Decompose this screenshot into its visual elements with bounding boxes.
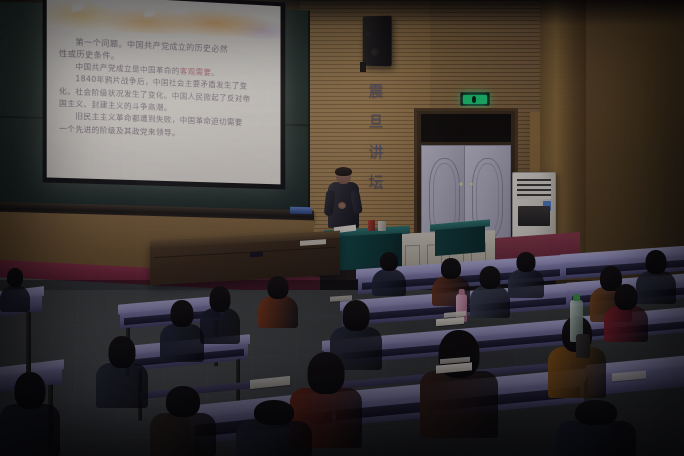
student-head — [646, 250, 667, 274]
student — [470, 266, 510, 318]
dark-tumbler[interactable] — [576, 334, 590, 358]
side-podium-body — [435, 226, 485, 256]
student-torso — [372, 269, 406, 296]
student-head — [210, 286, 231, 312]
student-head — [615, 284, 638, 310]
student-torso — [258, 296, 298, 328]
student-head — [343, 300, 370, 331]
student — [150, 386, 216, 456]
slide-text-body: 第一个问题。中国共产党成立的历史必然性或历史条件。中国共产党成立是中国革命的客观… — [47, 28, 281, 184]
student-torso — [96, 363, 148, 408]
blue-chalk-eraser-icon[interactable] — [290, 207, 312, 215]
dove-icon — [99, 0, 111, 8]
wall-calligraphy: 震旦讲坛 — [362, 84, 390, 190]
calligraphy-character: 震 — [368, 84, 383, 99]
student — [372, 252, 406, 296]
slide-highlight: 客观需要。 — [180, 66, 219, 77]
side-podium[interactable] — [430, 222, 490, 254]
student-head — [254, 400, 294, 425]
student-head — [15, 372, 46, 409]
projection-screen-surface: 第一个问题。中国共产党成立的历史必然性或历史条件。中国共产党成立是中国革命的客观… — [47, 0, 281, 184]
student — [96, 336, 148, 408]
cabinet-remote — [250, 252, 263, 258]
student — [0, 372, 60, 456]
dove-icon — [71, 2, 86, 12]
exit-sign-icon — [460, 92, 490, 106]
student-torso — [508, 269, 544, 298]
instructor-hand — [338, 202, 346, 209]
student — [0, 268, 30, 312]
ac-louvers — [517, 179, 551, 199]
student-head — [7, 268, 23, 287]
calligraphy-character: 坛 — [368, 175, 383, 190]
desk-leg — [26, 312, 31, 375]
student-head — [380, 252, 398, 271]
projection-screen: 第一个问题。中国共产党成立的历史必然性或历史条件。中国共产党成立是中国革命的客观… — [43, 0, 286, 189]
student-torso — [556, 421, 636, 456]
student-head — [575, 400, 617, 425]
student-head — [166, 386, 200, 417]
student — [604, 284, 648, 342]
podium-cup — [378, 221, 386, 231]
student-torso — [0, 404, 60, 456]
cabinet-seam — [154, 247, 336, 258]
dove-icon — [144, 10, 157, 17]
student — [508, 252, 544, 298]
student-head — [308, 352, 345, 394]
student — [556, 400, 636, 456]
student — [200, 286, 240, 344]
student-head — [109, 336, 136, 368]
student-torso — [0, 285, 30, 312]
student — [236, 400, 312, 456]
speaker-woofer — [368, 46, 379, 58]
instructor-hair — [335, 167, 352, 176]
ac-control-panel[interactable] — [518, 206, 550, 226]
student-torso — [604, 306, 648, 342]
speaker-mount — [360, 62, 366, 72]
dove-icon — [175, 5, 186, 15]
student-head — [517, 252, 536, 272]
student — [258, 276, 298, 328]
calligraphy-character: 旦 — [368, 114, 383, 129]
bottle-cap — [458, 289, 465, 295]
student-head — [480, 266, 501, 289]
podium-thermos — [368, 220, 375, 231]
student-torso — [200, 308, 240, 344]
student-torso — [236, 421, 312, 456]
lecture-hall-photo: 第一个问题。中国共产党成立的历史必然性或历史条件。中国共产党成立是中国革命的客观… — [0, 0, 684, 456]
speaker-tweeter — [366, 32, 371, 37]
exit-sign-panel — [463, 95, 487, 104]
student-head — [441, 258, 461, 279]
door-knob-icon — [469, 182, 473, 186]
student-torso — [150, 413, 216, 456]
student — [420, 330, 498, 438]
student-torso — [470, 286, 510, 318]
student-head — [171, 300, 194, 327]
bottle-cap — [573, 294, 581, 301]
student — [160, 300, 204, 362]
door-transom — [421, 114, 511, 142]
calligraphy-character: 讲 — [368, 145, 383, 160]
door-knob-icon — [459, 182, 463, 186]
wall-speaker-icon — [363, 16, 392, 67]
running-man-icon — [472, 96, 476, 103]
student-torso — [160, 324, 204, 362]
student-torso — [420, 371, 498, 438]
student-head — [268, 276, 289, 299]
